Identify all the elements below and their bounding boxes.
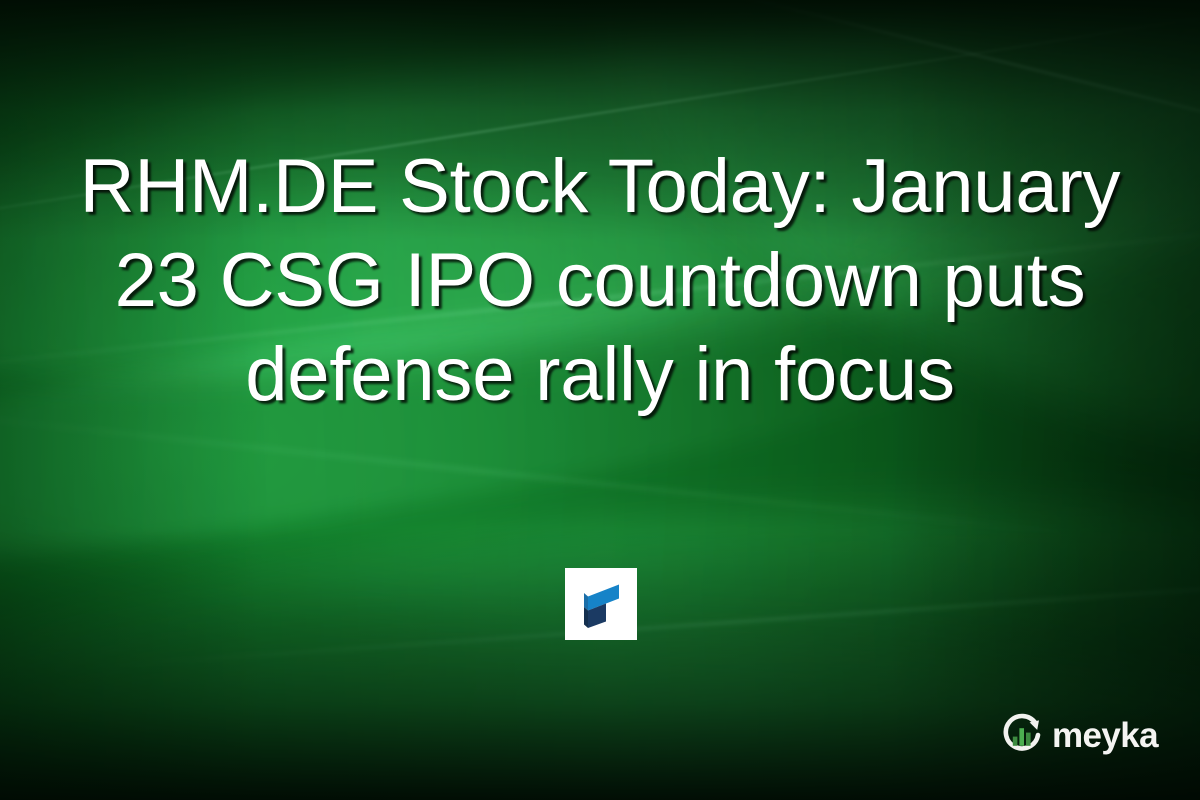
headline-block: RHM.DE Stock Today: January 23 CSG IPO c… xyxy=(45,140,1155,422)
page-title: RHM.DE Stock Today: January 23 CSG IPO c… xyxy=(45,140,1155,422)
meyka-wordmark: meyka xyxy=(1052,718,1158,753)
share-card-canvas: RHM.DE Stock Today: January 23 CSG IPO c… xyxy=(0,0,1200,800)
center-logo-tile xyxy=(565,568,637,640)
meyka-chart-ring-icon xyxy=(999,712,1045,758)
meyka-watermark: meyka xyxy=(999,712,1158,758)
rheinmetall-favicon-icon xyxy=(575,576,627,632)
